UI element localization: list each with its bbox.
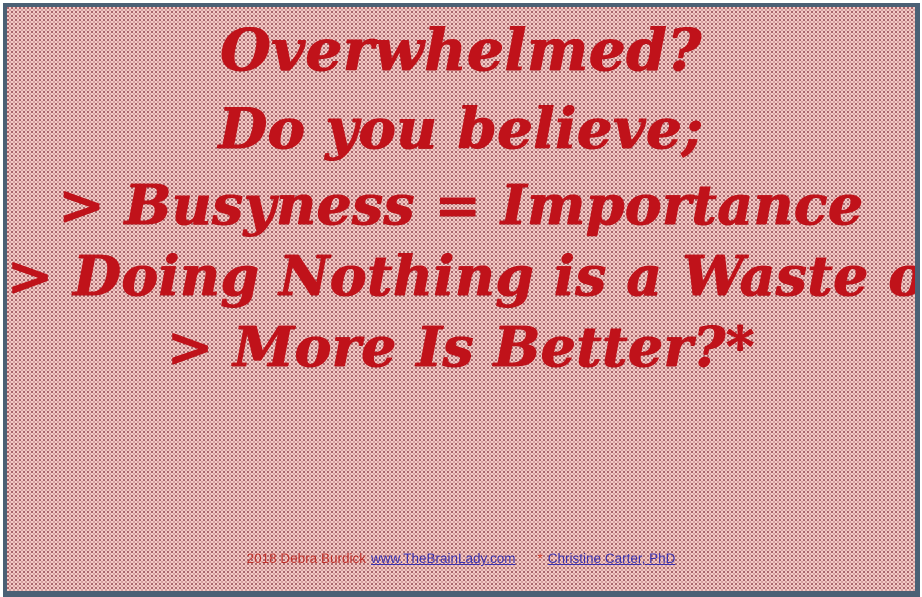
headline-line-do-you-believe: Do you believe;	[7, 101, 915, 157]
headline-block: Overwhelmed? Do you believe; > Busyness …	[7, 21, 915, 374]
headline-line-doing-nothing-waste: > Doing Nothing is a Waste of Time	[7, 248, 915, 303]
footer-website-link[interactable]: www.TheBrainLady.com	[371, 551, 516, 566]
footer-credit-line: 2018 Debra Burdickwww.TheBrainLady.com*C…	[7, 551, 915, 566]
slide-frame: Overwhelmed? Do you believe; > Busyness …	[3, 3, 920, 597]
headline-line-overwhelmed: Overwhelmed?	[7, 21, 915, 79]
headline-line-busyness-importance: > Busyness = Importance	[7, 177, 915, 232]
slide-container: Overwhelmed? Do you believe; > Busyness …	[0, 0, 922, 597]
footer-attribution-link[interactable]: Christine Carter, PhD	[548, 551, 676, 566]
footer-copyright: 2018 Debra Burdick	[247, 551, 366, 566]
headline-line-more-is-better: > More Is Better?*	[7, 319, 915, 374]
footer-asterisk-marker: *	[538, 551, 543, 566]
